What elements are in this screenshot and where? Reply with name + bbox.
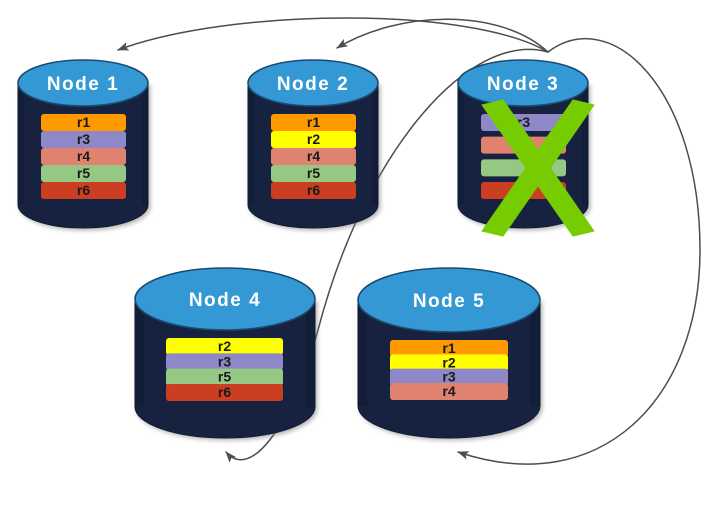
node-5-title: Node 5 <box>413 291 485 312</box>
node-4-body-shade-right <box>306 299 315 407</box>
node-2-body-shade-right <box>372 83 379 205</box>
node-1-body-shade-left <box>18 83 25 205</box>
node-1-body-shade-right <box>142 83 149 205</box>
node-2-replica-label-r6: r6 <box>307 182 320 198</box>
node-4[interactable]: Node 4r2r3r5r6 <box>135 268 315 438</box>
node-5[interactable]: Node 5r1r2r3r4 <box>358 268 540 438</box>
node-4-replica-label-r2: r2 <box>218 338 231 354</box>
node-2-replica-label-r1: r1 <box>307 114 320 130</box>
node-2[interactable]: Node 2r1r2r4r5r6 <box>248 60 378 228</box>
node-2-replica-label-r5: r5 <box>307 165 320 181</box>
node-1-title: Node 1 <box>47 74 119 95</box>
node-1-replica-label-r6: r6 <box>77 182 90 198</box>
node-4-replica-label-r6: r6 <box>218 384 231 400</box>
node-5-body-shade-right <box>531 300 540 406</box>
node-2-replica-label-r4: r4 <box>307 148 320 164</box>
node-4-title: Node 4 <box>189 290 261 311</box>
node-4-body-shade-left <box>135 299 144 407</box>
node-4-replica-label-r3: r3 <box>218 353 231 369</box>
node-1-replica-label-r5: r5 <box>77 165 90 181</box>
replica-placement-diagram: Node 1r1r3r4r5r6Node 2r1r2r4r5r6Node 3r3… <box>0 0 708 508</box>
node-2-title: Node 2 <box>277 74 349 95</box>
node-5-body-shade-left <box>358 300 367 406</box>
node-2-body-shade-left <box>248 83 255 205</box>
node-1[interactable]: Node 1r1r3r4r5r6 <box>18 60 148 228</box>
node-4-replica-label-r5: r5 <box>218 369 231 385</box>
arrow-node3-to-node2 <box>337 19 548 52</box>
node-3-body-shade-left <box>458 83 465 205</box>
node-3-body-shade-right <box>582 83 589 205</box>
node-1-replica-label-r1: r1 <box>77 114 90 130</box>
node-2-replica-label-r2: r2 <box>307 131 320 147</box>
node-1-replica-label-r4: r4 <box>77 148 90 164</box>
node-1-replica-label-r3: r3 <box>77 131 90 147</box>
node-5-replica-label-r4: r4 <box>442 383 455 399</box>
node-3-title: Node 3 <box>487 74 559 95</box>
